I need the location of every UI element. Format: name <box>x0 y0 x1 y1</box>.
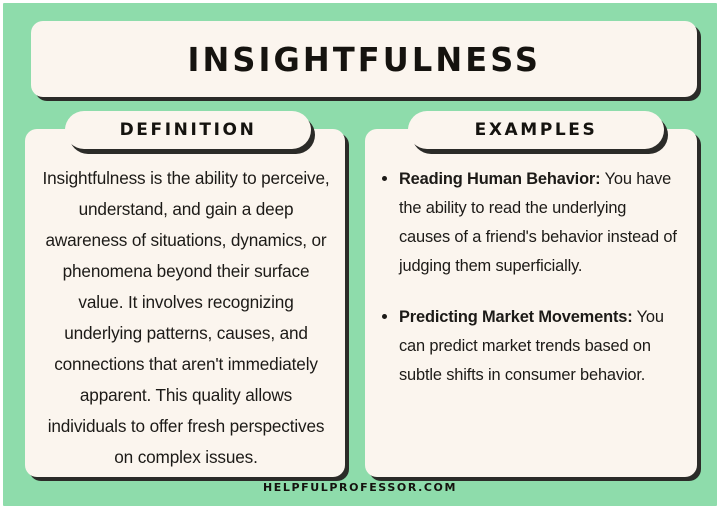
bullet-icon <box>382 314 387 319</box>
title-bar: INSIGHTFULNESS <box>31 21 697 97</box>
definition-body-text: Insightfulness is the ability to perceiv… <box>39 163 333 473</box>
list-item: Predicting Market Movements: You can pre… <box>381 303 681 390</box>
definition-heading-pill: DEFINITION <box>65 111 311 149</box>
page-title: INSIGHTFULNESS <box>187 43 541 76</box>
examples-list: Reading Human Behavior: You have the abi… <box>381 165 681 390</box>
examples-heading-label: EXAMPLES <box>475 122 598 139</box>
examples-heading-pill: EXAMPLES <box>408 111 664 149</box>
footer-attribution: HELPFULPROFESSOR.COM <box>263 481 457 494</box>
poster-canvas: INSIGHTFULNESS DEFINITION EXAMPLES Insig… <box>0 0 720 509</box>
example-term: Predicting Market Movements: <box>399 308 633 326</box>
footer: HELPFULPROFESSOR.COM <box>3 478 717 496</box>
bullet-icon <box>382 176 387 181</box>
example-term: Reading Human Behavior: <box>399 170 600 188</box>
definition-heading-label: DEFINITION <box>120 122 257 139</box>
list-item: Reading Human Behavior: You have the abi… <box>381 165 681 281</box>
